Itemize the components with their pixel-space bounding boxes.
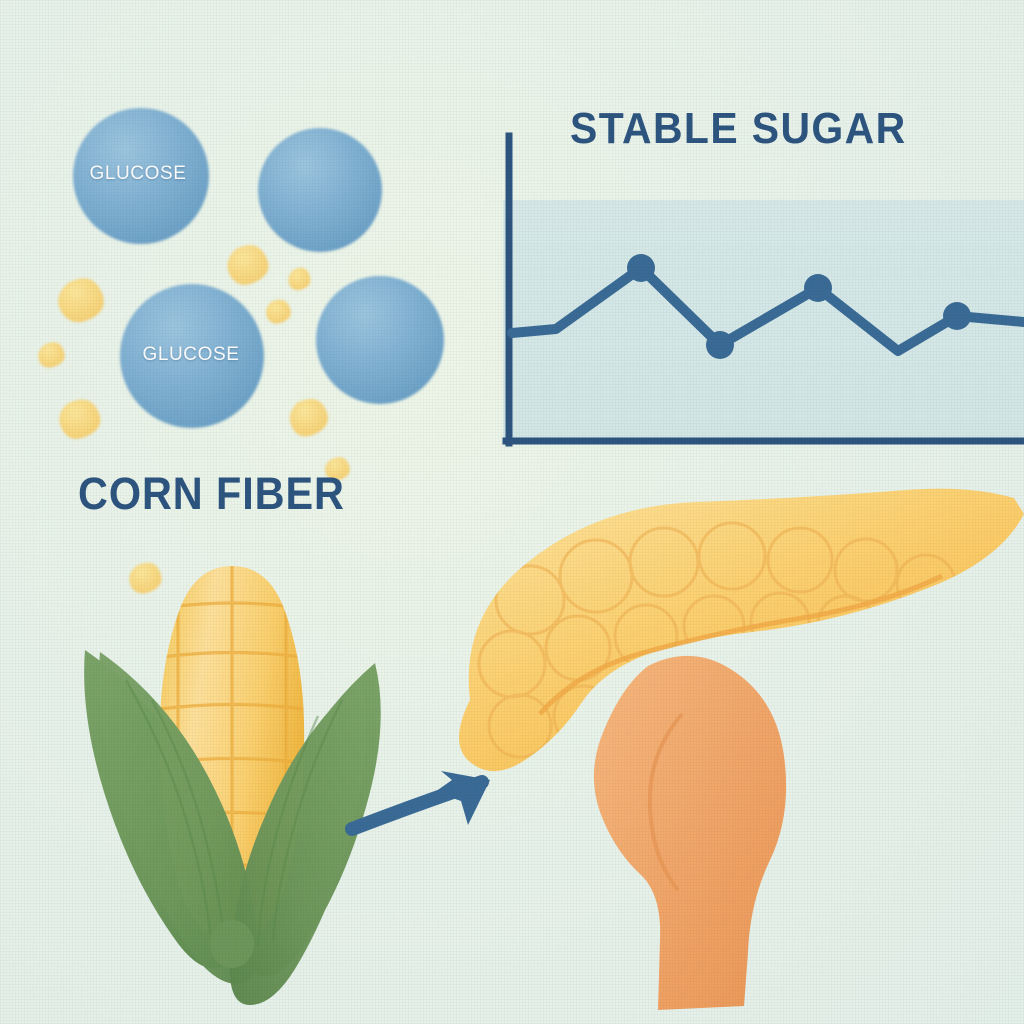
illustration-canvas: GLUCOSE GLUCOSE STABLE SUGAR CORN FIBER [0, 0, 1024, 1024]
pancreas-illustration [0, 0, 1024, 1024]
duodenum [594, 656, 786, 1010]
